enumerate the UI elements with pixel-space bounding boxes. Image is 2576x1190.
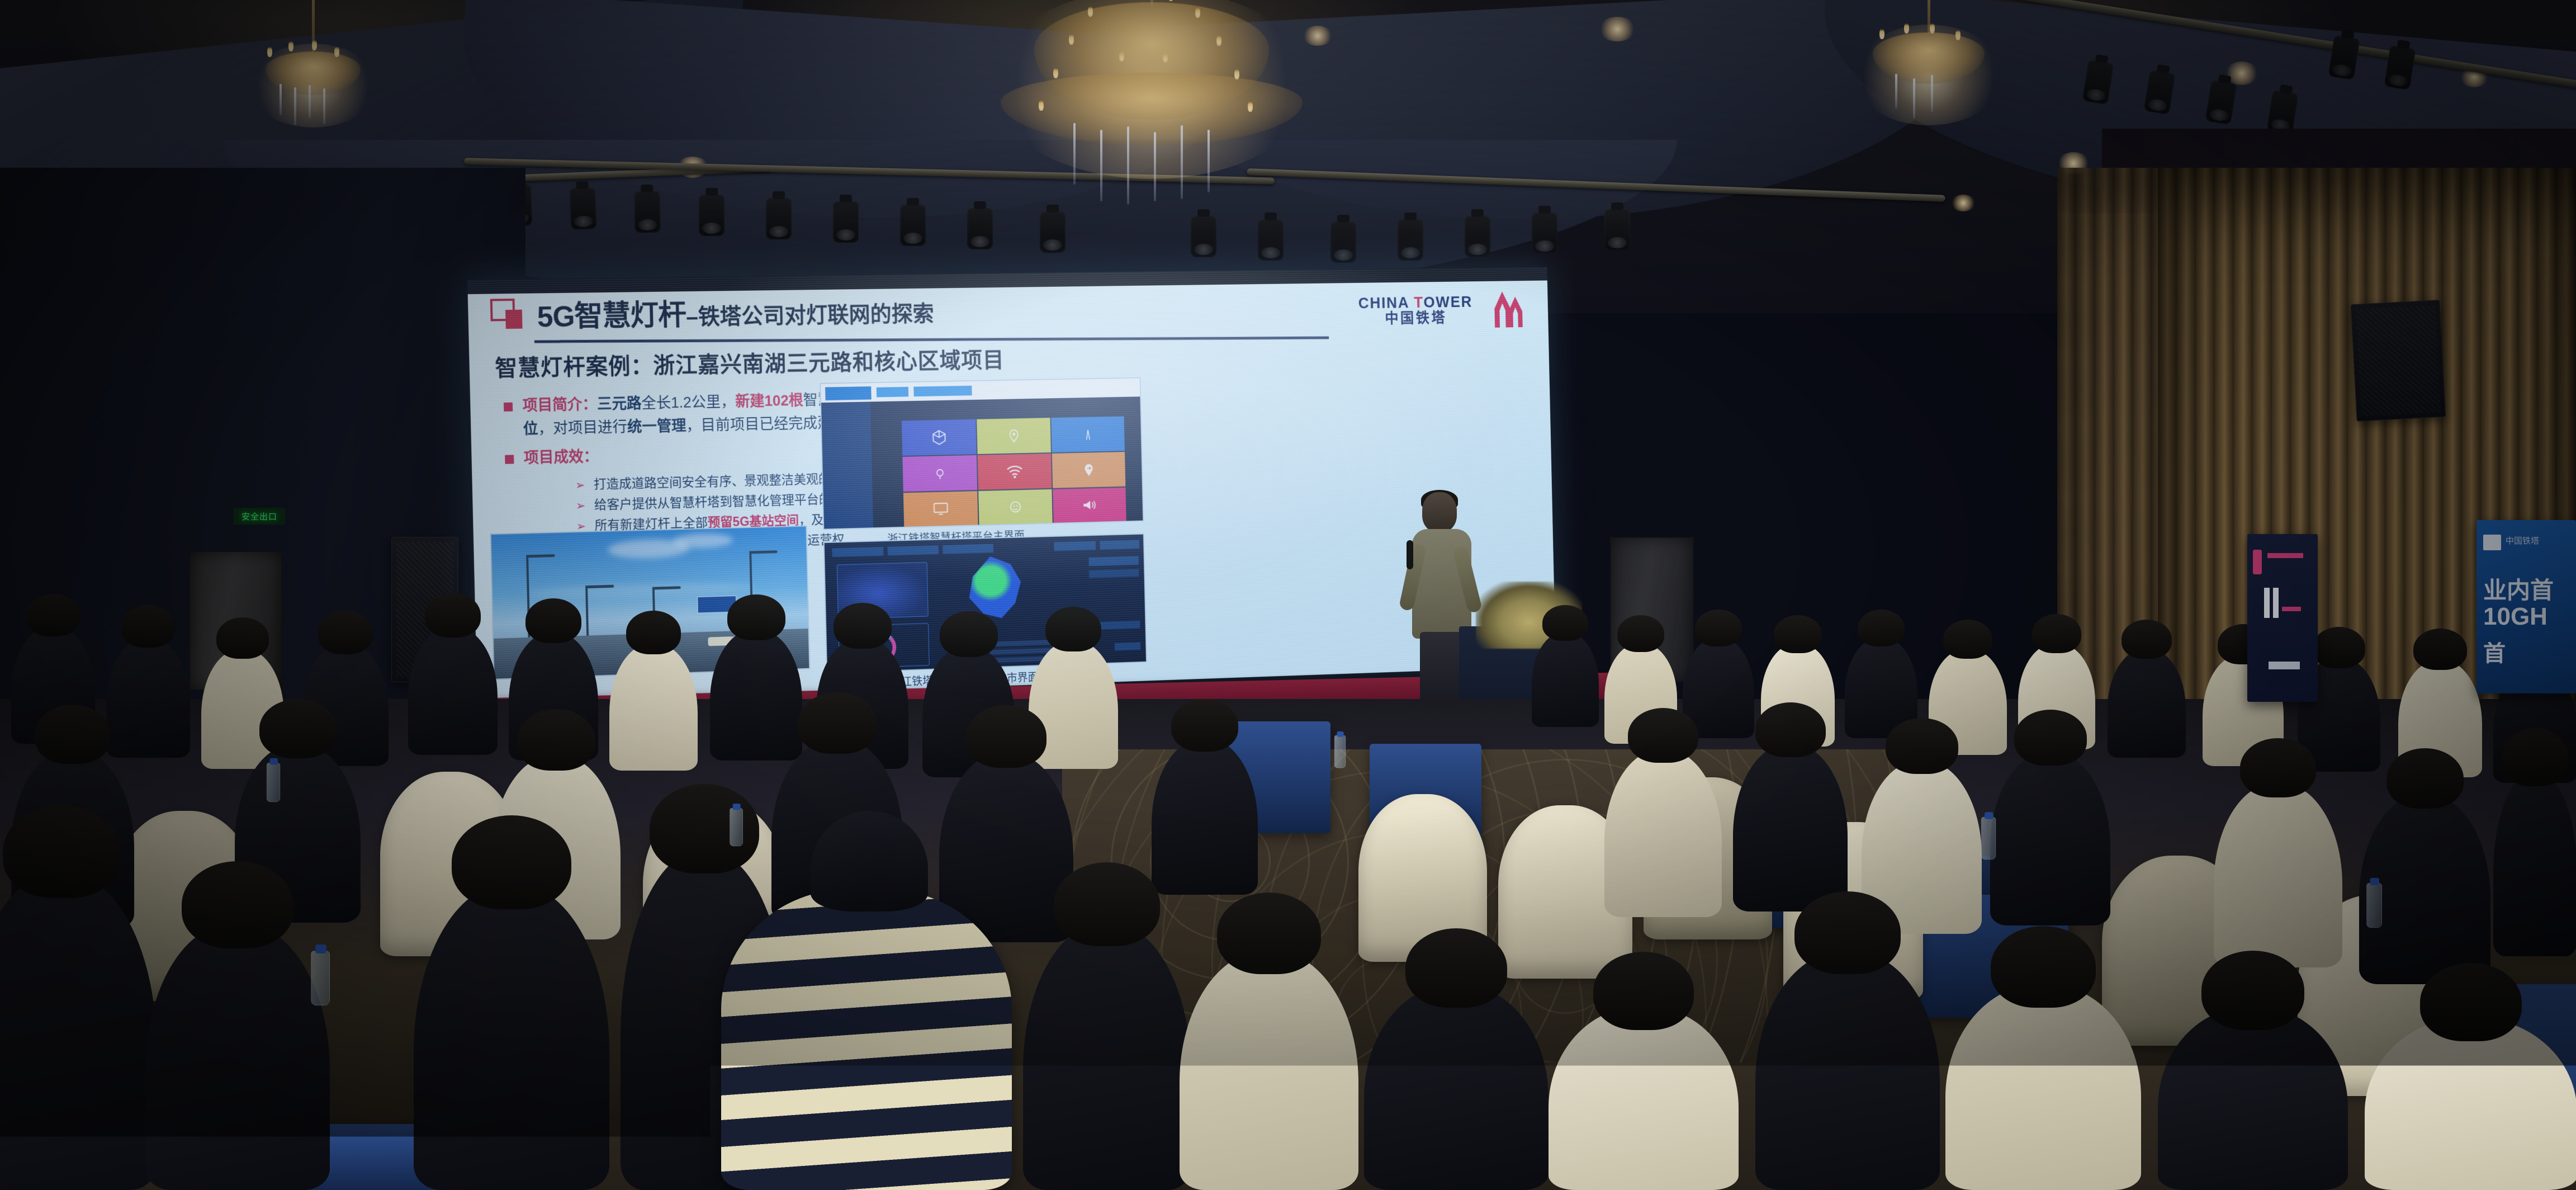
stage-light-icon bbox=[1040, 211, 1066, 253]
water-bottle bbox=[267, 763, 280, 802]
exit-sign: 安全出口 bbox=[234, 508, 285, 525]
bullet-square-icon bbox=[505, 455, 514, 464]
audience-member-front bbox=[145, 923, 330, 1190]
audience-member-front bbox=[1549, 1007, 1739, 1190]
monitor-icon bbox=[932, 502, 949, 516]
stage-light-icon bbox=[1330, 221, 1356, 263]
exit-sign-label: 安全出口 bbox=[241, 511, 277, 522]
audience-member bbox=[2214, 783, 2342, 967]
stage-light-icon bbox=[1258, 219, 1284, 261]
slide-title-main: 5G智慧灯杆 bbox=[537, 299, 686, 333]
platform-main-ui-screenshot bbox=[820, 377, 1144, 530]
audience-member bbox=[609, 643, 698, 771]
chandelier-small-left bbox=[240, 0, 386, 129]
audience-member bbox=[1532, 632, 1599, 727]
audience-member bbox=[1152, 738, 1258, 895]
presenter-head bbox=[1422, 492, 1457, 532]
stage-light-icon bbox=[1604, 209, 1630, 251]
stage-light-icon bbox=[900, 205, 926, 246]
slide-logo-mark bbox=[490, 298, 525, 331]
audience-member-front bbox=[1023, 923, 1191, 1190]
banner-line-2: 10GH bbox=[2483, 603, 2547, 631]
stage-light-icon bbox=[766, 198, 792, 239]
audience-member-front bbox=[1180, 951, 1358, 1190]
logo-cn-text: 中国铁塔 bbox=[1358, 310, 1473, 327]
location-pin-icon bbox=[1007, 428, 1021, 445]
water-bottle bbox=[2366, 883, 2382, 928]
audience-member-front bbox=[1364, 984, 1549, 1190]
audience-member-striped-shirt bbox=[721, 889, 1012, 1190]
stage-light-icon bbox=[833, 201, 859, 243]
stage-light-icon bbox=[1532, 212, 1557, 254]
bullet-label: 项目简介 bbox=[522, 396, 582, 414]
logo-en-text: CHINA TOWER bbox=[1358, 294, 1472, 312]
audience-member bbox=[2108, 649, 2186, 758]
pin-arrow-icon bbox=[1082, 462, 1096, 479]
water-bottle bbox=[1334, 735, 1346, 768]
conference-room-photo: 安全出口 5G智慧灯杆–铁塔公司对灯联网的探索 CHINA TOWER bbox=[0, 0, 2576, 1190]
audience-member bbox=[1733, 744, 1848, 912]
stage-light-icon bbox=[1398, 219, 1423, 261]
stage-light-icon bbox=[967, 208, 993, 249]
chandelier-large-center bbox=[973, 0, 1330, 207]
camera-icon bbox=[932, 466, 948, 481]
tower-chevrons-icon bbox=[1479, 289, 1528, 329]
bullet-square-icon bbox=[504, 403, 513, 412]
audience-member bbox=[2493, 772, 2576, 956]
audience-member bbox=[1604, 749, 1722, 917]
tower-icon bbox=[1082, 426, 1095, 442]
stage-light-icon bbox=[699, 195, 724, 236]
audience-member-front bbox=[2365, 1018, 2576, 1190]
audience-member-front bbox=[2158, 1007, 2348, 1190]
banner-logo-text: 中国铁塔 bbox=[2506, 535, 2539, 546]
stage-light-icon bbox=[1191, 216, 1216, 257]
cube-icon bbox=[931, 429, 947, 446]
banner-line-1: 业内首 bbox=[2483, 572, 2554, 606]
audience-member bbox=[106, 637, 190, 758]
stage-light-icon bbox=[570, 187, 597, 230]
handheld-microphone bbox=[1407, 540, 1413, 569]
megaphone-icon bbox=[1081, 498, 1098, 512]
audience-member-front bbox=[1755, 951, 1940, 1190]
water-bottle bbox=[730, 808, 743, 847]
downlight-icon bbox=[1951, 195, 1976, 211]
wifi-icon bbox=[1006, 465, 1024, 479]
banner-line-3: 首 bbox=[2483, 635, 2506, 668]
slide-title-sub: 铁塔公司对灯联网的探索 bbox=[698, 302, 934, 329]
downlight-icon bbox=[1599, 17, 1636, 41]
audience-member-front bbox=[414, 884, 609, 1190]
audience-member bbox=[710, 629, 802, 761]
banner-blue-right[interactable]: 中国铁塔 业内首 10GH 首 bbox=[2476, 520, 2576, 693]
slide-title-dash: – bbox=[686, 305, 699, 329]
stage-light-icon bbox=[1465, 216, 1490, 257]
water-bottle bbox=[311, 951, 330, 1005]
stage-light-icon bbox=[634, 191, 660, 233]
audience-member bbox=[1990, 752, 2110, 925]
face-icon bbox=[1008, 499, 1023, 515]
pa-speaker bbox=[2351, 300, 2446, 422]
slide-title: 5G智慧灯杆–铁塔公司对灯联网的探索 bbox=[537, 288, 935, 335]
audience-member bbox=[408, 626, 498, 755]
chandelier-small-right bbox=[1845, 0, 2012, 134]
water-bottle bbox=[1981, 817, 1996, 860]
banner-dark-right[interactable] bbox=[2247, 534, 2318, 702]
bullet-label: 项目成效 bbox=[524, 448, 584, 466]
china-tower-logo: CHINA TOWER 中国铁塔 bbox=[1358, 289, 1527, 330]
audience-member-front bbox=[1945, 984, 2141, 1190]
